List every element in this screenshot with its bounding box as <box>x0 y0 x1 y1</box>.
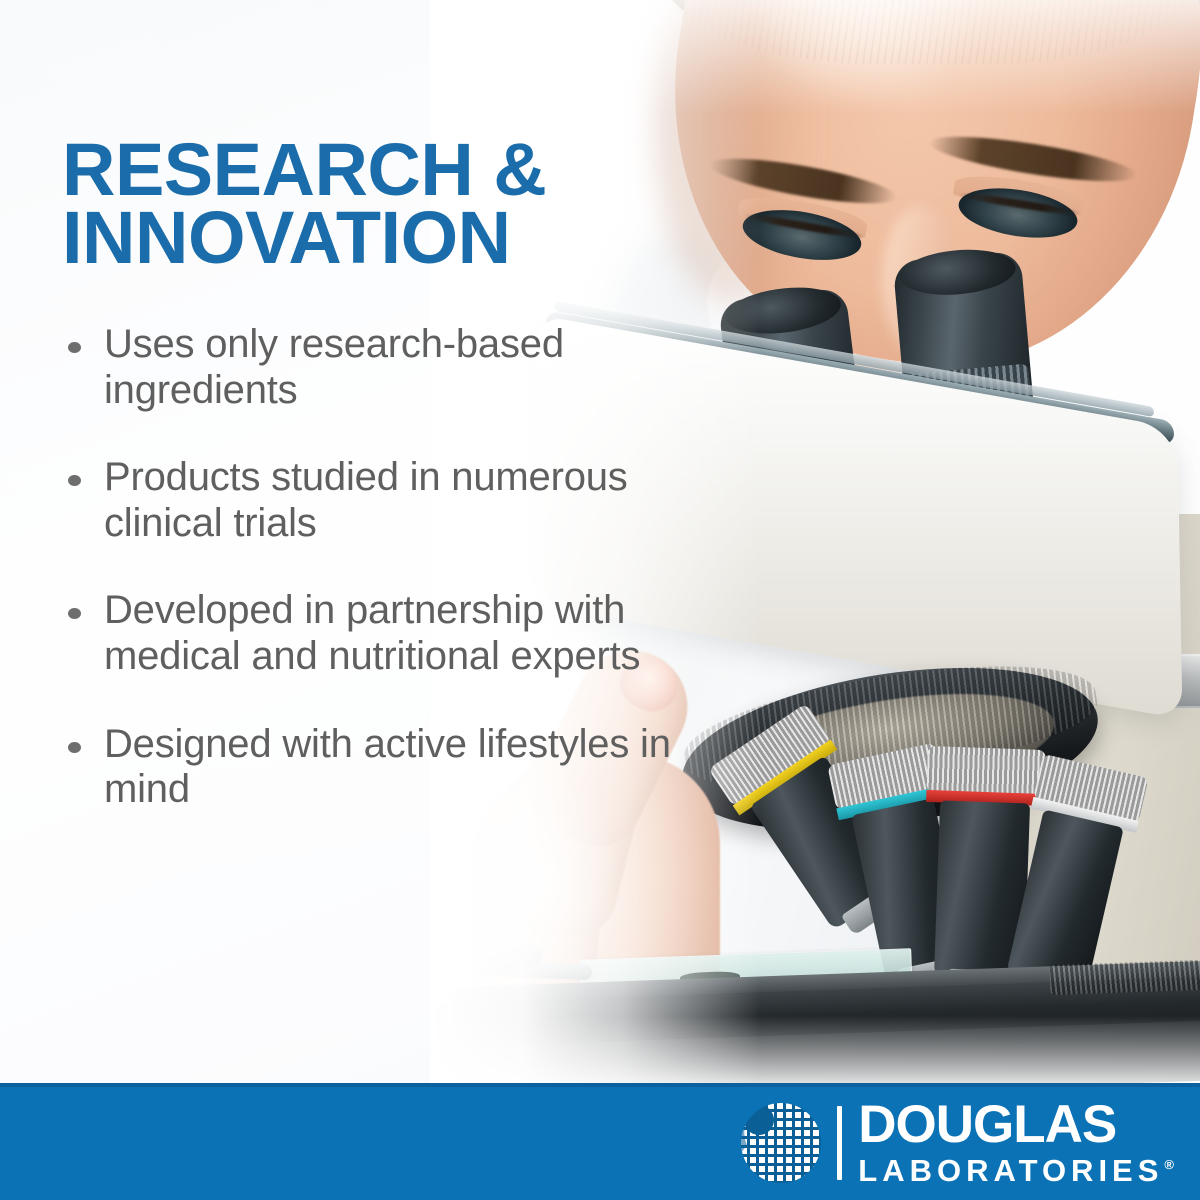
footer-bar: DOUGLAS LABORATORIES® <box>0 1083 1200 1200</box>
bullet-dot-icon <box>68 342 81 353</box>
logo-wordmark: DOUGLAS LABORATORIES® <box>858 1100 1174 1185</box>
list-item: Uses only research-based ingredients <box>62 322 682 413</box>
page-title: RESEARCH & INNOVATION <box>62 136 682 274</box>
brand-name: DOUGLAS <box>858 1100 1174 1149</box>
bullet-dot-icon <box>68 475 81 486</box>
benefits-list: Uses only research-based ingredients Pro… <box>62 322 682 813</box>
stage-knurl <box>1050 959 1200 995</box>
list-item-label: Products studied in numerous clinical tr… <box>104 455 628 545</box>
registered-trademark-icon: ® <box>1164 1157 1174 1172</box>
list-item: Developed in partnership with medical an… <box>62 588 682 679</box>
douglas-laboratories-logo: DOUGLAS LABORATORIES® <box>739 1100 1174 1186</box>
list-item-label: Uses only research-based ingredients <box>104 322 564 412</box>
bullet-dot-icon <box>68 608 81 619</box>
footer-top-edge <box>0 1083 1200 1087</box>
list-item: Products studied in numerous clinical tr… <box>62 455 682 546</box>
logo-divider <box>837 1106 842 1180</box>
bullet-dot-icon <box>68 742 81 753</box>
brand-subname-text: LABORATORIES <box>858 1153 1163 1188</box>
brand-subname: LABORATORIES® <box>858 1155 1174 1186</box>
list-item-label: Developed in partnership with medical an… <box>104 588 640 678</box>
list-item: Designed with active lifestyles in mind <box>62 722 682 813</box>
douglas-halftone-circle-mark <box>739 1101 823 1185</box>
list-item-label: Designed with active lifestyles in mind <box>104 722 671 812</box>
research-innovation-poster: RESEARCH & INNOVATION Uses only research… <box>0 0 1200 1200</box>
